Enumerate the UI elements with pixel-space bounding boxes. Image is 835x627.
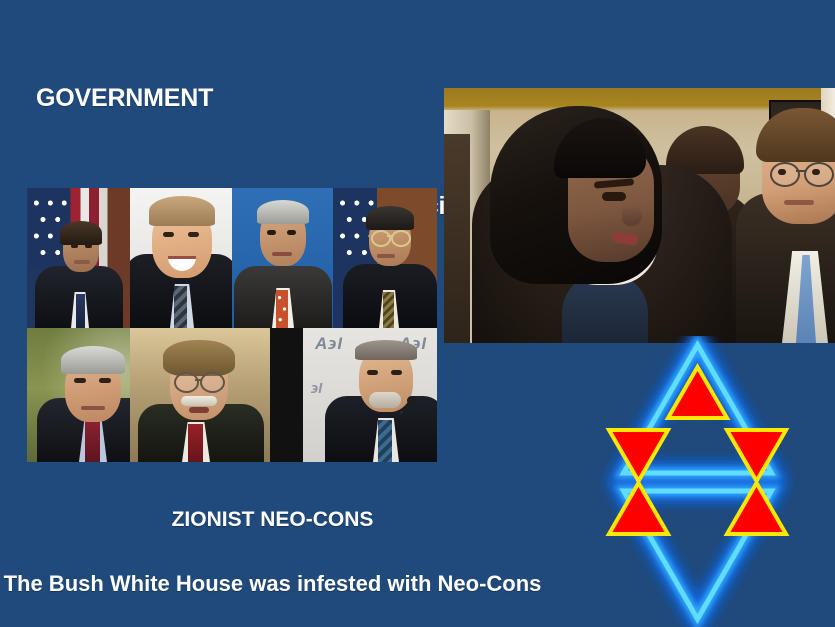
moustache (181, 396, 217, 406)
hair (366, 206, 414, 230)
neocon-photo-2 (130, 188, 232, 328)
microphone (407, 396, 416, 405)
glasses-left-lens (174, 372, 199, 393)
mouth (189, 407, 209, 413)
tie (85, 420, 100, 462)
mouth (74, 260, 90, 264)
mouth (81, 406, 105, 410)
eye-left (367, 370, 378, 375)
star-of-david-svg (560, 336, 835, 627)
glasses-bridge (387, 235, 393, 237)
tie (188, 424, 203, 462)
eye-left (267, 230, 276, 235)
rice-photo (444, 88, 835, 343)
beard (369, 392, 401, 408)
glasses-left-lens (371, 230, 391, 247)
tie (76, 294, 85, 328)
tie (276, 290, 288, 328)
hair (163, 340, 235, 376)
photo-dark-doorway (444, 134, 470, 343)
tie (174, 286, 187, 328)
man-right-glasses-right (804, 162, 834, 187)
glasses-right-lens (391, 230, 411, 247)
eye-right (99, 378, 111, 383)
glasses-bridge (195, 379, 202, 381)
eye-right (287, 230, 296, 235)
eye-left (71, 244, 78, 248)
star-of-david (560, 336, 835, 627)
aei-logo-3: ϶I (311, 380, 322, 397)
slide-root: GOVERNMENT Zionist Control of senior U.S… (0, 0, 835, 627)
eye-right (391, 370, 402, 375)
man-right-mouth (784, 200, 814, 205)
neocon-photo-grid: A϶I A϶I ϶I (27, 188, 437, 462)
aei-logo-1: A϶I (315, 334, 343, 354)
rice-nose (622, 206, 642, 226)
hair (60, 221, 102, 245)
eye-right (85, 244, 92, 248)
hair (257, 200, 309, 224)
caption-block: ZIONIST NEO-CONS The Bush White House wa… (0, 470, 545, 627)
man-right-glasses-left (770, 162, 800, 187)
caption-line-1: The Bush White House was infested with N… (0, 569, 545, 599)
tie (383, 292, 394, 328)
man-right-glasses-bridge (796, 170, 806, 172)
glasses-right-lens (200, 372, 225, 393)
hair (61, 346, 125, 374)
neocon-photo-4 (333, 188, 437, 328)
rice-eye (602, 192, 626, 201)
mouth (272, 252, 292, 256)
neocon-photo-1 (27, 188, 130, 328)
mouth (377, 254, 395, 258)
neocon-photo-3 (232, 188, 333, 328)
neocon-photo-7: A϶I A϶I ϶I (303, 328, 437, 462)
man-right-eye-left (778, 169, 786, 175)
eye-left (74, 378, 86, 383)
hair (355, 340, 417, 360)
neocon-photo-6 (130, 328, 270, 462)
man-right-eye-right (812, 169, 820, 175)
star-red-points (609, 367, 786, 534)
hair (149, 196, 215, 226)
eye-right (188, 232, 199, 237)
caption-heading: ZIONIST NEO-CONS (0, 506, 545, 533)
tie (378, 420, 392, 462)
eye-left (163, 232, 174, 237)
